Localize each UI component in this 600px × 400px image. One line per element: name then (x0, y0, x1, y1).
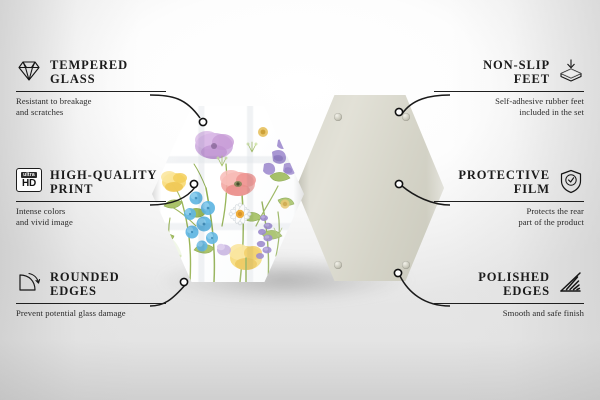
diamond-icon (16, 58, 42, 84)
feature-description: Prevent potential glass damage (16, 308, 166, 319)
feature-description: Intense colorsand vivid image (16, 206, 166, 228)
feature-title: ROUNDEDEDGES (50, 270, 120, 298)
glass-panel-edge (152, 106, 304, 282)
feature-tempered-glass: TEMPEREDGLASS Resistant to breakageand s… (16, 58, 166, 118)
feature-polished-edges: POLISHEDEDGES Smooth and safe finish (434, 270, 584, 319)
feature-header: POLISHEDEDGES (434, 270, 584, 298)
feature-title: NON-SLIPFEET (483, 58, 550, 86)
feature-description: Smooth and safe finish (434, 308, 584, 319)
feature-divider (434, 201, 584, 202)
feature-rounded-edges: ROUNDEDEDGES Prevent potential glass dam… (16, 270, 166, 319)
feature-divider (434, 303, 584, 304)
rubber-foot (334, 113, 342, 121)
feature-header: ultra HD HIGH-QUALITYPRINT (16, 168, 166, 196)
feature-header: NON-SLIPFEET (434, 58, 584, 86)
feature-header: TEMPEREDGLASS (16, 58, 166, 86)
feature-description: Self-adhesive rubber feetincluded in the… (434, 96, 584, 118)
shield-check-icon (558, 168, 584, 194)
feature-title: HIGH-QUALITYPRINT (50, 168, 157, 196)
feature-title: TEMPEREDGLASS (50, 58, 128, 86)
hatched-triangle-icon (558, 270, 584, 296)
feature-title: PROTECTIVEFILM (458, 168, 550, 196)
rear-panel-edge-shading (296, 95, 444, 281)
ultra-hd-badge-icon: ultra HD (16, 168, 42, 194)
feature-description: Resistant to breakageand scratches (16, 96, 166, 118)
rubber-foot (402, 261, 410, 269)
rubber-foot (334, 261, 342, 269)
feature-protective-film: PROTECTIVEFILM Protects the rearpart of … (434, 168, 584, 228)
feature-non-slip-feet: NON-SLIPFEET Self-adhesive rubber feetin… (434, 58, 584, 118)
ultra-hd-large-label: HD (22, 179, 36, 189)
feature-header: PROTECTIVEFILM (434, 168, 584, 196)
feature-header: ROUNDEDEDGES (16, 270, 166, 298)
feature-divider (16, 303, 166, 304)
feature-description: Protects the rearpart of the product (434, 206, 584, 228)
feature-divider (16, 91, 166, 92)
feature-title: POLISHEDEDGES (478, 270, 550, 298)
rounded-corner-icon (16, 270, 42, 296)
rubber-foot (402, 113, 410, 121)
ultra-hd-small-label: ultra (21, 172, 37, 178)
feature-divider (434, 91, 584, 92)
press-down-pad-icon (558, 58, 584, 84)
feature-high-quality-print: ultra HD HIGH-QUALITYPRINT Intense color… (16, 168, 166, 228)
feature-divider (16, 201, 166, 202)
